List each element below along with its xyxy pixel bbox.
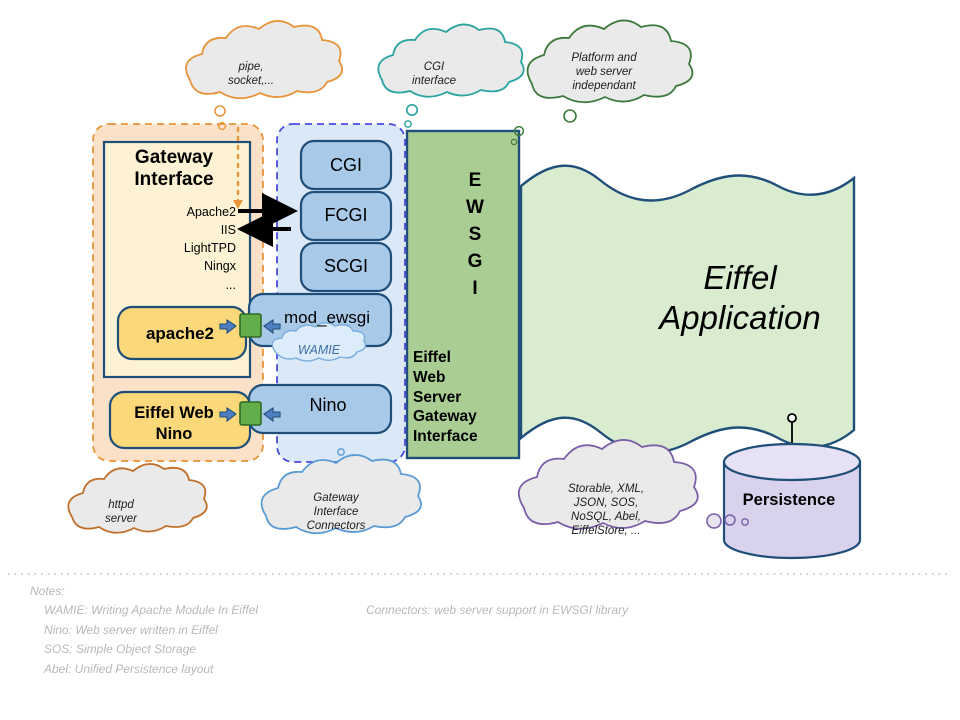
wamie-label: WAMIE [282,343,356,357]
note-line: Abel: Unified Persistence layout [44,660,930,679]
ewsgi-expansion: Eiffel Web Server Gateway Interface [413,348,523,447]
cloud-platform-independant-text: Platform and web server independant [536,51,672,93]
cloud-gateway-interface-connectors-text: Gateway Interface Connectors [278,491,394,533]
eiffel-application-label: Eiffel Application [600,258,880,337]
cloud-cgi-interface-text: CGI interface [384,60,484,88]
mod-ewsgi-label: mod_ewsgi [266,308,388,328]
fcgi-label: FCGI [300,205,392,226]
server-item: IIS [104,221,236,239]
notes-heading: Notes: [30,582,930,601]
note-line: SOS: Simple Object Storage [44,640,930,659]
cloud-pipe-socket-text: pipe, socket,... [196,60,306,88]
gateway-server-list: Apache2 IIS LightTPD Ningx ... [104,203,236,294]
cloud-httpd-server-text: httpd server [78,498,164,526]
note-line: WAMIE: Writing Apache Module In Eiffel C… [44,601,930,620]
scgi-label: SCGI [300,256,392,277]
gateway-interface-title: Gateway Interface [104,147,244,191]
cgi-label: CGI [300,155,392,176]
note-line: Nino: Web server written in Eiffel [44,621,930,640]
apache2-label: apache2 [120,324,240,344]
server-item: ... [104,276,236,294]
server-item: Ningx [104,257,236,275]
notes-block: Notes: WAMIE: Writing Apache Module In E… [30,582,930,679]
cgi-interface-dot-trail [405,105,417,127]
server-item: Apache2 [104,203,236,221]
eiffel-web-nino-label: Eiffel Web Nino [112,403,236,446]
nino-label: Nino [272,395,384,416]
ewsgi-acronym: E W S G I [440,168,510,303]
persistence-label: Persistence [722,491,856,510]
server-item: LightTPD [104,239,236,257]
platform-independant-dot-trail [515,110,576,135]
note-line-right: Connectors: web server support in EWSGI … [366,601,628,620]
cloud-persistence-technologies-text: Storable, XML, JSON, SOS, NoSQL, Abel, E… [530,482,682,538]
diagram-canvas: Gateway Interface Apache2 IIS LightTPD N… [0,0,960,720]
